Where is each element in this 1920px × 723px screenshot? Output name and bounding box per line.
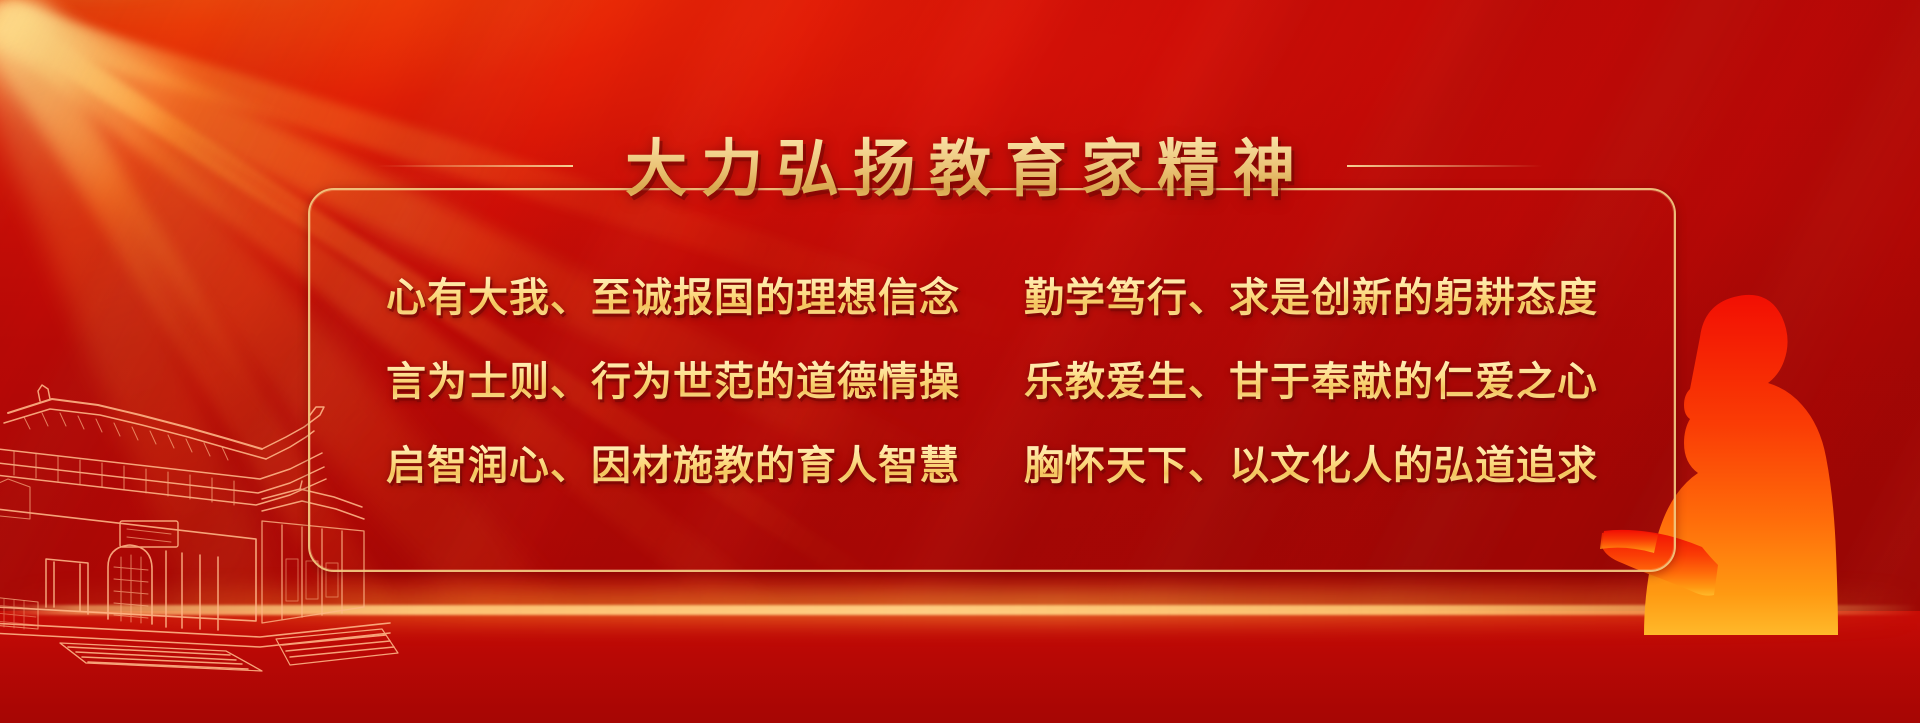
slogan-row1-right: 勤学笃行、求是创新的躬耕态度 [992,265,1620,323]
slogan-row: 心有大我、至诚报国的理想信念 勤学笃行、求是创新的躬耕态度 [364,265,1620,323]
slogan-row3-right: 胸怀天下、以文化人的弘道追求 [992,433,1620,491]
slogan-row: 启智润心、因材施教的育人智慧 胸怀天下、以文化人的弘道追求 [364,433,1620,491]
slogan-row2-right: 乐教爱生、甘于奉献的仁爱之心 [992,349,1620,407]
education-spirit-banner: 大力弘扬教育家精神 心有大我、至诚报国的理想信念 勤学笃行、求是创新的躬耕态度 … [0,0,1920,723]
slogan-row2-left: 言为士则、行为世范的道德情操 [364,349,992,407]
slogan-row: 言为士则、行为世范的道德情操 乐教爱生、甘于奉献的仁爱之心 [364,349,1620,407]
slogan-grid: 心有大我、至诚报国的理想信念 勤学笃行、求是创新的躬耕态度 言为士则、行为世范的… [308,188,1676,572]
slogan-row3-left: 启智润心、因材施教的育人智慧 [364,433,992,491]
slogan-row1-left: 心有大我、至诚报国的理想信念 [364,265,992,323]
